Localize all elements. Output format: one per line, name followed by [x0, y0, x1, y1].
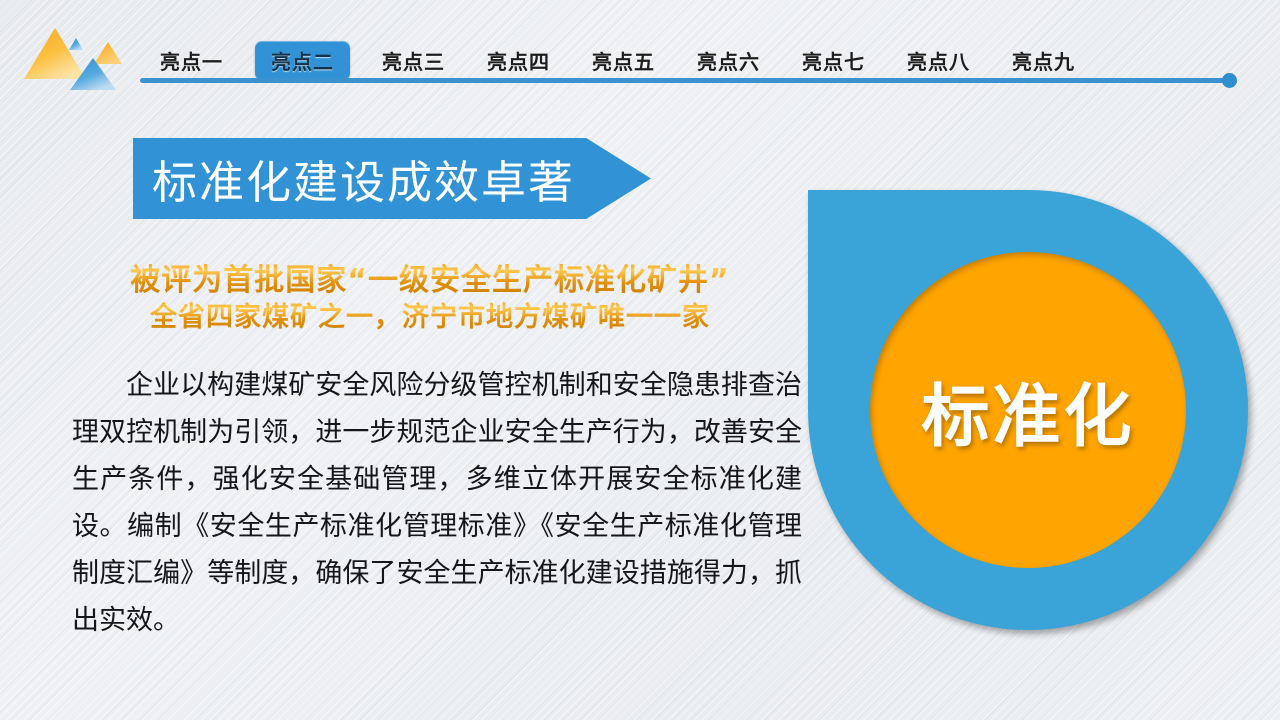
- nav-tab-5[interactable]: 亮点五: [582, 41, 665, 80]
- nav-tab-9[interactable]: 亮点九: [1002, 41, 1085, 80]
- big-orange-triangle-icon: [24, 28, 86, 79]
- mountain-triangles-logo: [18, 26, 138, 94]
- nav-tab-2[interactable]: 亮点二: [255, 41, 350, 80]
- subtitle-line-1: 被评为首批国家“一级安全生产标准化矿井”: [60, 262, 800, 300]
- body-paragraph: 企业以构建煤矿安全风险分级管控机制和安全隐患排查治理双控机制为引领，进一步规范企…: [72, 362, 802, 644]
- nav-tab-1[interactable]: 亮点一: [150, 41, 233, 80]
- nav-tab-8[interactable]: 亮点八: [897, 41, 980, 80]
- teardrop-graphic: 标准化: [808, 190, 1248, 630]
- nav-tab-7[interactable]: 亮点七: [792, 41, 875, 80]
- small-orange-triangle-icon: [94, 42, 122, 64]
- subtitle-line-2: 全省四家煤矿之一，济宁市地方煤矿唯一一家: [60, 300, 800, 336]
- section-title-text: 标准化建设成效卓著: [152, 146, 575, 211]
- small-blue-triangle-icon: [69, 38, 83, 50]
- slide-canvas: 亮点一 亮点二 亮点三 亮点四 亮点五 亮点六 亮点七 亮点八 亮点九 标准化建…: [0, 0, 1280, 720]
- nav-underline-rule: [140, 78, 1230, 83]
- nav-tabs: 亮点一 亮点二 亮点三 亮点四 亮点五 亮点六 亮点七 亮点八 亮点九: [150, 40, 1260, 80]
- teardrop-label-text: 标准化: [921, 361, 1134, 460]
- nav-tab-3[interactable]: 亮点三: [372, 41, 455, 80]
- teardrop-orange-circle: 标准化: [870, 252, 1186, 568]
- nav-tab-4[interactable]: 亮点四: [477, 41, 560, 80]
- nav-tab-6[interactable]: 亮点六: [687, 41, 770, 80]
- nav-underline-end-dot-icon: [1222, 73, 1237, 88]
- logo-svg: [18, 26, 138, 94]
- teardrop-blue-shape: 标准化: [808, 190, 1248, 630]
- subtitle-block: 被评为首批国家“一级安全生产标准化矿井” 全省四家煤矿之一，济宁市地方煤矿唯一一…: [60, 262, 800, 336]
- section-title-banner: 标准化建设成效卓著: [133, 138, 651, 219]
